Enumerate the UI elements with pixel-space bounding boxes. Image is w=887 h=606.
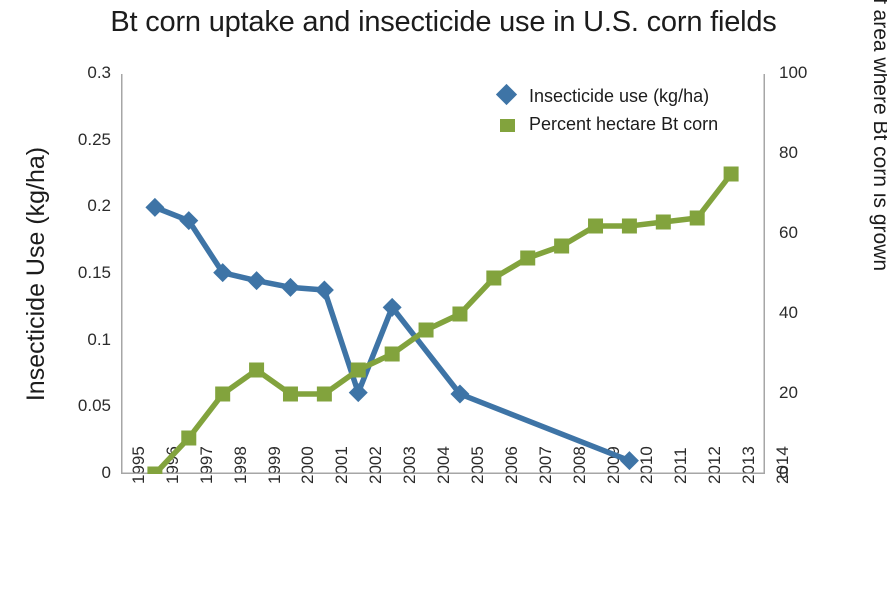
data-point-marker xyxy=(588,219,603,234)
y-axis-left-tick-label: 0.1 xyxy=(51,330,111,350)
y-axis-left-tick-label: 0.2 xyxy=(51,196,111,216)
data-point-marker xyxy=(215,387,230,402)
data-point-marker xyxy=(419,323,434,338)
y-axis-right-tick-label: 40 xyxy=(779,303,839,323)
data-point-marker xyxy=(554,239,569,254)
chart-legend: Insecticide use (kg/ha) Percent hectare … xyxy=(497,82,718,138)
data-point-marker xyxy=(315,281,334,300)
data-point-marker xyxy=(249,363,264,378)
data-point-marker xyxy=(724,167,739,182)
data-point-marker xyxy=(351,363,366,378)
legend-label-insecticide: Insecticide use (kg/ha) xyxy=(529,86,709,107)
series-bt-corn xyxy=(147,167,738,475)
data-point-marker xyxy=(622,219,637,234)
x-axis-tick-label: 2014 xyxy=(773,446,793,484)
data-point-marker xyxy=(452,307,467,322)
data-point-marker xyxy=(145,198,164,217)
diamond-marker-icon xyxy=(497,85,519,107)
square-marker-icon xyxy=(497,113,519,135)
data-point-marker xyxy=(181,431,196,446)
y-axis-right-tick-label: 60 xyxy=(779,223,839,243)
y-axis-right-tick-label: 80 xyxy=(779,143,839,163)
y-axis-left-title: Insecticide Use (kg/ha) xyxy=(22,104,51,444)
y-axis-right-title: Percentage of area where Bt corn is grow… xyxy=(868,0,887,272)
legend-item-insecticide[interactable]: Insecticide use (kg/ha) xyxy=(497,82,718,110)
data-point-marker xyxy=(520,251,535,266)
y-axis-left-tick-label: 0 xyxy=(51,463,111,483)
data-point-marker xyxy=(690,211,705,226)
data-point-marker xyxy=(281,278,300,297)
data-series-layer xyxy=(145,167,738,475)
y-axis-left-tick-label: 0.25 xyxy=(51,130,111,150)
y-axis-left-tick-label: 0.05 xyxy=(51,396,111,416)
y-axis-left-tick-label: 0.3 xyxy=(51,63,111,83)
y-axis-right-tick-label: 20 xyxy=(779,383,839,403)
legend-label-bt-corn: Percent hectare Bt corn xyxy=(529,114,718,135)
data-point-marker xyxy=(247,271,266,290)
data-point-marker xyxy=(620,451,639,470)
data-point-marker xyxy=(349,383,368,402)
data-point-marker xyxy=(385,347,400,362)
data-point-marker xyxy=(317,387,332,402)
y-axis-left-tick-label: 0.15 xyxy=(51,263,111,283)
data-point-marker xyxy=(283,387,298,402)
data-point-marker xyxy=(656,215,671,230)
legend-item-bt-corn[interactable]: Percent hectare Bt corn xyxy=(497,110,718,138)
data-point-marker xyxy=(486,271,501,286)
page-title: Bt corn uptake and insecticide use in U.… xyxy=(0,6,887,39)
y-axis-right-tick-label: 100 xyxy=(779,63,839,83)
data-point-marker xyxy=(147,467,162,475)
